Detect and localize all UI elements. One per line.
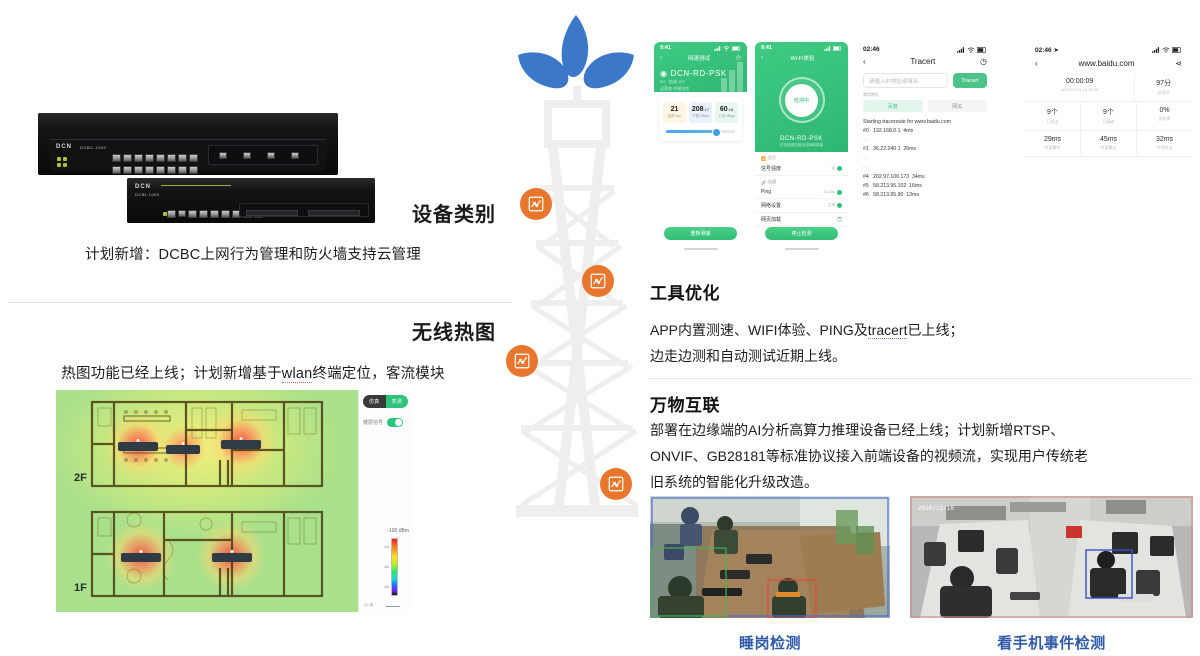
tracert-input-row: 请输入IP地址或域名 Tracert [855, 70, 995, 88]
menu-item-status: 12.3ms [823, 190, 842, 195]
status-time-group: 02:46 ➤ [1035, 46, 1059, 54]
stat-value: 60.16 [716, 106, 737, 113]
module-port [267, 152, 275, 159]
module-port [219, 152, 227, 159]
back-icon[interactable]: ‹ [1035, 59, 1038, 68]
stat-value-int: 208 [692, 106, 704, 113]
tools-line1-a: APP内置测速、WIFI体验、PING及 [650, 322, 868, 338]
phone-screenshot-webload: 02:46 ➤ ‹ www.baidu.com ⋖ 00:00:09 [1025, 42, 1192, 187]
heatmap-toggle-label: 楼层信号 [363, 419, 383, 426]
ethernet-port [221, 210, 230, 218]
cell-sub: 平均时长 [1139, 145, 1190, 151]
ethernet-port [178, 166, 187, 174]
ap-marker[interactable] [221, 440, 261, 449]
cell-value: 9个 [1083, 107, 1134, 117]
section-divider [648, 378, 1193, 379]
stop-test-button[interactable]: 停止检测 [765, 227, 838, 240]
ethernet-port [112, 166, 121, 174]
stat-value-dec: .17 [704, 107, 710, 112]
battery-icon [732, 46, 741, 51]
photo-caption-phone-usage: 看手机事件检测 [910, 632, 1193, 653]
tracert-chip-gateway[interactable]: 网关 [928, 100, 988, 112]
detection-photo-phone-usage: 2020/12/18 [910, 496, 1193, 618]
speedtest-result-card: 21 延时 ms 208.17 下载 Mbps 60.16 上传 Mbps [659, 97, 742, 141]
history-icon[interactable]: ◷ [980, 57, 987, 66]
wifi-exp-ssid-sub: 正在检测当前无线网络质量 [755, 143, 848, 152]
webload-cell-loss: 0% 丢包率 [1137, 102, 1192, 130]
signal-petals-icon [518, 15, 634, 88]
menu-item-status-text: 正常 [828, 203, 835, 208]
heatmap-canvas: 2F 1F [56, 390, 358, 612]
speedtest-ssid: DCN-RD-PSK [671, 69, 727, 78]
ethernet-port [134, 154, 143, 162]
signal-icon [824, 46, 831, 51]
check-icon [837, 166, 842, 171]
device-brand-label: DCN [135, 184, 151, 190]
cell-sub: 总评分 [1137, 90, 1190, 96]
tools-line1-emphasis: tracert [868, 322, 908, 339]
webload-cell-sent: 9个 已发送 [1025, 102, 1081, 130]
cell-value: 0% [1139, 107, 1190, 114]
legend-tick: -40 [383, 544, 389, 549]
loading-spinner-icon [837, 217, 842, 222]
wifi-icon [1162, 47, 1170, 53]
webload-cell-min-rtt: 29ms 往返最短 [1025, 131, 1081, 156]
link-icon: 🔗 [761, 180, 766, 185]
ethernet-port [178, 154, 187, 162]
heatmap-body-part-a: 热图功能已经上线；计划新增基于 [61, 366, 282, 382]
wifi-exp-group-signal: 📶 信号 信号强度 优 [755, 152, 848, 176]
tracert-chip-row: 百度 网关 [855, 100, 995, 112]
cell-sub: 已发送 [1027, 119, 1078, 125]
status-icons [957, 47, 987, 53]
status-time: 02:46 [1035, 47, 1052, 54]
floor-label-2f: 2F [74, 472, 87, 484]
heatmap-legend-ticks: -40 -60 -80 [381, 538, 389, 596]
ethernet-port [123, 166, 132, 174]
tools-line-1: APP内置测速、WIFI体验、PING及tracert已上线； [650, 318, 1192, 344]
group-caption-signal: 📶 信号 [755, 152, 848, 162]
ethernet-port [145, 154, 154, 162]
battery-icon [1172, 47, 1182, 53]
ethernet-port [112, 154, 121, 162]
ethernet-port [188, 210, 197, 218]
section-divider [8, 302, 512, 303]
tracert-title: Tracert [910, 57, 935, 66]
heatmap-legend-label: -100 dBm [387, 528, 409, 534]
ethernet-port-row [112, 154, 198, 162]
ap-marker[interactable] [121, 553, 161, 562]
module-slot [308, 210, 360, 216]
heatmap-scale-label: 10 米 [364, 602, 374, 608]
detection-photo-sleeping [650, 496, 890, 618]
cell-sub: 2023-09-21 14:26:09 [1027, 87, 1132, 92]
stat-value-dec: .16 [728, 107, 734, 112]
menu-item-label: Ping [761, 189, 771, 195]
ethernet-port [210, 210, 219, 218]
floor-label-1f: 1F [74, 582, 87, 594]
ethernet-port [134, 166, 143, 174]
tracert-navbar: ‹ Tracert ◷ [855, 53, 995, 70]
section-heading-iot: 万物互联 [650, 391, 720, 416]
menu-item-status-text: 优 [831, 166, 835, 171]
status-led [57, 163, 61, 167]
wifi-exp-ssid: DCN-RD-PSK [755, 136, 848, 142]
menu-item-status-text: 12.3ms [823, 190, 835, 194]
menu-item-status [837, 217, 842, 222]
stat-value: 21 [664, 106, 685, 113]
speedtest-stat-row: 21 延时 ms 208.17 下载 Mbps 60.16 上传 Mbps [663, 102, 738, 123]
iot-line-2: ONVIF、GB28181等标准协议接入前端设备的视频流，实现用户传统老 [650, 444, 1192, 470]
cell-value: 29ms [1027, 136, 1078, 143]
tracert-hop: #0 192.168.0.1 4ms [863, 127, 987, 136]
webload-url: www.baidu.com [1078, 59, 1134, 68]
tracert-input[interactable]: 请输入IP地址或域名 [863, 73, 948, 88]
menu-item-ping[interactable]: Ping 12.3ms [755, 186, 848, 199]
battery-icon [833, 46, 842, 51]
tracert-common-label: 常用地址 [855, 88, 995, 100]
phone-screenshot-tracert: 02:46 ‹ Tracert ◷ 请输入IP地址或域名 Tracert 常用地… [855, 42, 995, 254]
device-model-label: DCBC-1000 [80, 145, 106, 150]
stat-latency: 21 延时 ms [663, 102, 686, 123]
cell-value: 9个 [1027, 107, 1078, 117]
expansion-module [239, 203, 369, 217]
status-icons [824, 46, 842, 51]
photo-caption-sleeping: 睡岗检测 [650, 632, 890, 653]
section-body-heatmap: 热图功能已经上线；计划新增基于wlan终端定位，客流模块 [0, 362, 506, 383]
office-scene-b: 2020/12/18 [910, 496, 1193, 618]
table-row: 00:00:09 2023-09-21 14:26:09 97分 总评分 [1025, 73, 1192, 102]
wireless-heatmap-screenshot: 2F 1F 仿真 实测 楼层信号 -100 dBm [56, 390, 412, 612]
cell-sub: 往返最长 [1083, 145, 1134, 151]
heatmap-legend-colorbar [391, 538, 398, 596]
ethernet-port [123, 154, 132, 162]
left-column: DCN DCBC-1000 [0, 0, 520, 656]
share-icon[interactable]: ⋖ [1175, 59, 1182, 68]
cell-value: 00:00:09 [1027, 78, 1132, 85]
signal-bars-decoration [721, 62, 743, 92]
phone-screenshot-wifi-experience: 9:41 ‹ Wi-Fi体验 检测中 DCN-RD-PSK [755, 42, 848, 254]
ethernet-port [189, 166, 198, 174]
webload-navbar: ‹ www.baidu.com ⋖ [1025, 54, 1192, 73]
heatmap-body-emphasis: wlan [282, 366, 313, 383]
signal-icon [714, 46, 721, 51]
ap-marker[interactable] [166, 445, 200, 454]
ethernet-port [189, 154, 198, 162]
tower-vector [496, 0, 656, 530]
heatmap-toggle-switch[interactable] [387, 418, 403, 427]
photo-timestamp: 2020/12/18 [918, 505, 954, 512]
group-caption-connectivity: 🔗 连通 [755, 176, 848, 186]
cell-value: 45ms [1083, 136, 1134, 143]
webload-cell-score: 97分 总评分 [1135, 73, 1192, 101]
webload-cell-max-rtt: 45ms 往返最长 [1081, 131, 1137, 156]
status-time: 9:41 [761, 45, 772, 51]
stat-unit: 下载 Mbps [690, 114, 711, 119]
iot-line-1: 部署在边缘端的AI分析高算力推理设备已经上线；计划新增RTSP、 [650, 418, 1192, 444]
section-heading-device-type: 设备类别 [412, 198, 496, 227]
menu-item-page-load[interactable]: 网页加载 [755, 213, 848, 227]
ethernet-port [156, 166, 165, 174]
tracert-log-header: Starting traceroute for www.baidu.com [863, 118, 987, 127]
speedtest-header: 9:41 ‹ 网速测试 ◷ ◉ DCN-RD-PSK 5G · 信道 1 [654, 42, 747, 92]
section-body-device-type: 计划新增：DCBC上网行为管理和防火墙支持云管理 [0, 243, 506, 264]
status-bar: 02:46 [855, 42, 995, 53]
status-bar: 9:41 [755, 42, 848, 52]
section-heading-heatmap: 无线热图 [412, 316, 496, 345]
menu-item-label: 网页加载 [761, 216, 781, 223]
heatmap-mode-measured[interactable]: 实测 [386, 395, 409, 408]
telecom-tower-graphic [496, 0, 656, 530]
ethernet-port [199, 210, 208, 218]
brand-accent-line [161, 185, 231, 186]
section-heading-tools: 工具优化 [650, 279, 720, 304]
back-icon[interactable]: ‹ [761, 55, 763, 61]
menu-item-status: 正常 [828, 203, 842, 208]
stat-download: 208.17 下载 Mbps [689, 102, 712, 123]
tools-line1-b: 已上线； [907, 322, 963, 338]
device-brand-label: DCN [56, 144, 72, 150]
ethernet-port [167, 166, 176, 174]
expansion-module [208, 145, 318, 165]
signal-icon [957, 47, 965, 53]
ap-marker[interactable] [118, 442, 158, 451]
tracert-hop: ... [863, 163, 987, 172]
menu-item-status: 优 [831, 166, 842, 171]
chart-analytics-icon [506, 345, 538, 377]
heatmap-scale-row: 10 米 [364, 602, 400, 608]
signal-icon [1152, 47, 1160, 53]
cell-sub: 往返最短 [1027, 145, 1078, 151]
signal-icon: 📶 [761, 156, 766, 161]
slide-root: DCN DCBC-1000 [0, 0, 1200, 656]
heatmap-mode-switch[interactable]: 仿真 实测 [363, 395, 408, 408]
heatmap-toggle-row[interactable]: 楼层信号 [363, 418, 403, 427]
device-photo-firewall: DCN DCBC-1000 [38, 113, 338, 175]
legend-tick: -60 [383, 564, 389, 569]
floorplan-vector [56, 390, 358, 612]
device-front-panel: DCN DCBC-1000 [50, 139, 326, 171]
dial-status-text: 检测中 [785, 84, 818, 117]
wifi-exp-navbar: ‹ Wi-Fi体验 [755, 52, 848, 64]
group-caption-text: 信号 [768, 155, 776, 161]
chart-analytics-icon [582, 265, 614, 297]
phone-screenshot-speedtest: 9:41 ‹ 网速测试 ◷ ◉ DCN-RD-PSK 5G · 信道 1 [654, 42, 747, 254]
stat-value-int: 60 [720, 106, 728, 113]
tracert-hop: #6 58.213.95.90 13ms [863, 191, 987, 200]
device-photo-behavior-mgmt: DCN DCBI-1000 [127, 178, 375, 223]
stat-value: 208.17 [690, 106, 711, 113]
tracert-run-button[interactable]: Tracert [953, 73, 987, 88]
ethernet-port [178, 210, 186, 217]
section-body-tools: APP内置测速、WIFI体验、PING及tracert已上线； 边走边测和自动测… [650, 318, 1192, 370]
battery-icon [977, 47, 987, 53]
menu-item-network-settings[interactable]: 网络设置 正常 [755, 199, 848, 213]
check-icon [837, 203, 842, 208]
status-bar: 9:41 [654, 42, 747, 52]
iot-line-3: 旧系统的智能化升级改造。 [650, 470, 1192, 496]
status-icons [1152, 47, 1182, 53]
scale-ruler-icon [386, 604, 400, 607]
status-led [63, 157, 67, 161]
wifi-icon [967, 47, 975, 53]
back-icon[interactable]: ‹ [660, 55, 662, 61]
module-port [243, 152, 251, 159]
group-caption-text: 连通 [768, 179, 776, 185]
ethernet-port [156, 154, 165, 162]
status-time: 02:46 [863, 46, 880, 53]
webload-cell-received: 9个 已接收 [1081, 102, 1137, 130]
cell-value: 97分 [1137, 78, 1190, 88]
section-body-iot: 部署在边缘端的AI分析高算力推理设备已经上线；计划新增RTSP、 ONVIF、G… [650, 418, 1192, 496]
tracert-hop: #5 58.213.95.102 16ms [863, 182, 987, 191]
right-column: 9:41 ‹ 网速测试 ◷ ◉ DCN-RD-PSK 5G · 信道 1 [645, 0, 1200, 656]
wifi-shield-icon: ◉ [660, 69, 668, 78]
module-slot [246, 210, 298, 216]
ethernet-port [145, 166, 154, 174]
stat-unit: 上传 Mbps [716, 114, 737, 119]
menu-item-label: 网络设置 [761, 202, 781, 209]
heatmap-body-part-b: 终端定位，客流模块 [312, 366, 444, 382]
tools-line-2: 边走边测和自动测试近期上线。 [650, 344, 1192, 370]
location-arrow-icon: ➤ [1053, 47, 1058, 54]
speedtest-title: 网速测试 [688, 54, 710, 62]
wifi-exp-header: 9:41 ‹ Wi-Fi体验 检测中 DCN-RD-PSK [755, 42, 848, 152]
ethernet-port-row [112, 166, 198, 174]
check-icon [837, 190, 842, 195]
speed-gauge-slider[interactable] [666, 130, 735, 133]
tracert-log: Starting traceroute for www.baidu.com #0… [855, 112, 995, 200]
cell-sub: 已接收 [1083, 119, 1134, 125]
ethernet-port [167, 154, 176, 162]
status-icons [714, 46, 741, 51]
table-row: 9个 已发送 9个 已接收 0% 丢包率 [1025, 102, 1192, 131]
tracert-hop: ... [863, 154, 987, 163]
status-led [63, 163, 67, 167]
module-port [291, 152, 299, 159]
table-row: 29ms 往返最短 45ms 往返最长 32ms 平均时长 [1025, 131, 1192, 157]
status-bar: 02:46 ➤ [1025, 42, 1192, 54]
webload-cell-duration: 00:00:09 2023-09-21 14:26:09 [1025, 73, 1135, 101]
status-time: 9:41 [660, 45, 671, 51]
office-scene-a [650, 496, 890, 618]
webload-stats-grid: 00:00:09 2023-09-21 14:26:09 97分 总评分 9个 … [1025, 73, 1192, 157]
back-icon[interactable]: ‹ [863, 57, 866, 66]
tracert-chip-baidu[interactable]: 百度 [863, 100, 923, 112]
history-icon[interactable]: ◷ [736, 55, 741, 61]
cell-value: 32ms [1139, 136, 1190, 143]
webload-cell-avg-rtt: 32ms 平均时长 [1137, 131, 1192, 156]
tracert-hop: ... [863, 136, 987, 145]
stat-unit: 延时 ms [664, 114, 685, 119]
menu-item-label: 信号强度 [761, 165, 781, 172]
heatmap-mode-simulated[interactable]: 仿真 [363, 395, 386, 408]
home-indicator [684, 248, 718, 250]
tracert-hop: #4 202.97.100.173 34ms [863, 173, 987, 182]
device-model-label: DCBI-1000 [135, 192, 160, 197]
tower-frame [516, 86, 638, 517]
menu-item-signal-strength[interactable]: 信号强度 优 [755, 162, 848, 176]
status-led [57, 157, 61, 161]
stat-upload: 60.16 上传 Mbps [715, 102, 738, 123]
retest-button[interactable]: 重新测速 [664, 227, 737, 240]
legend-tick: -80 [383, 584, 389, 589]
cell-sub: 丢包率 [1139, 116, 1190, 122]
wifi-exp-group-connectivity: 🔗 连通 Ping 12.3ms 网络设置 正常 [755, 176, 848, 227]
wifi-icon [723, 46, 730, 51]
tracert-hop: #1 36.22.240.1 26ms [863, 145, 987, 154]
ap-marker[interactable] [212, 553, 252, 562]
chart-analytics-icon [520, 188, 552, 220]
chart-analytics-icon [600, 468, 632, 500]
progress-ring: 检测中 [779, 77, 825, 123]
home-indicator [785, 248, 819, 250]
wifi-exp-dial: 检测中 [755, 64, 848, 136]
heatmap-side-panel: 仿真 实测 楼层信号 -100 dBm -40 -60 -80 10 米 [358, 390, 412, 612]
ethernet-port [167, 210, 176, 218]
wifi-exp-title: Wi-Fi体验 [791, 54, 815, 62]
